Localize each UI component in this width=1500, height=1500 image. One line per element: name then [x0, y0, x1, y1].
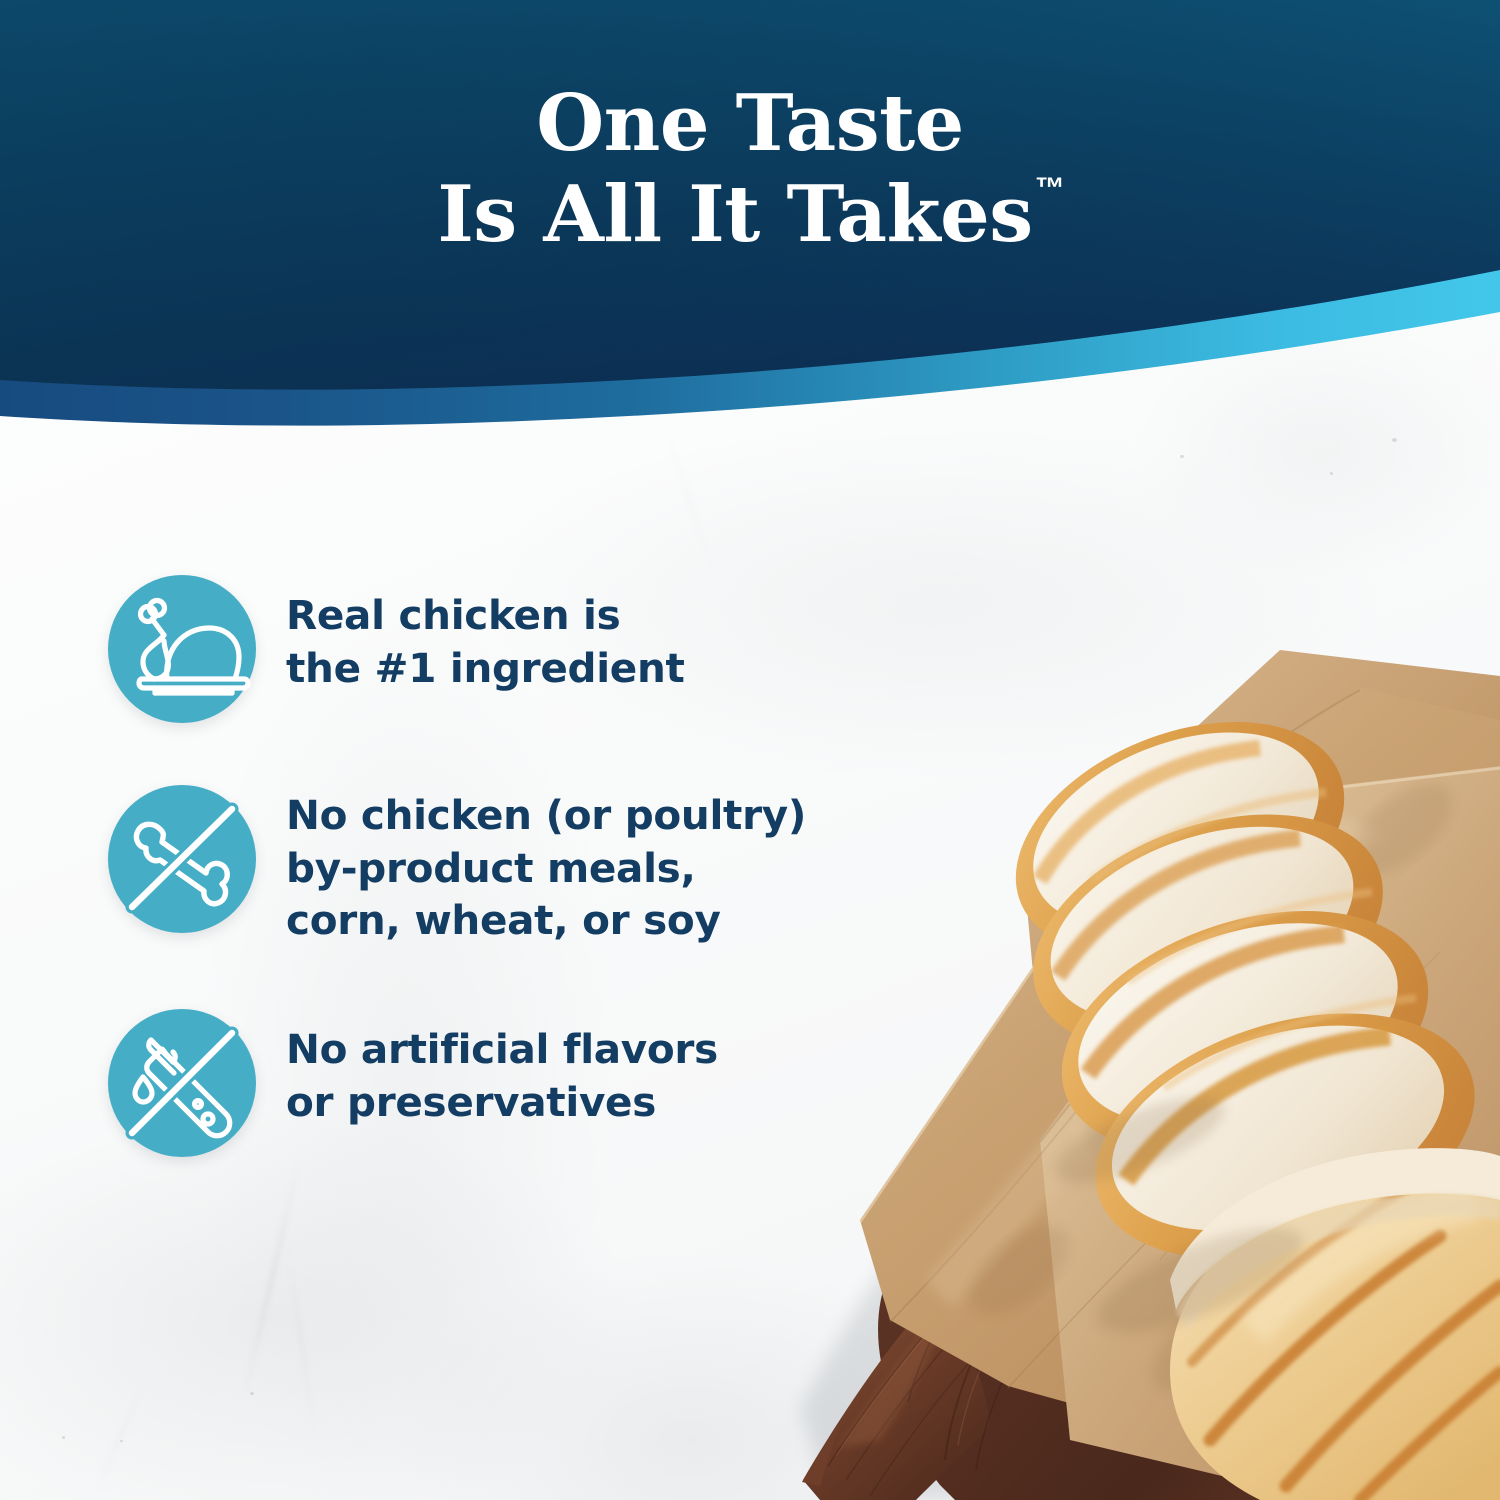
page-title: One Taste Is All It Takes™ — [0, 78, 1500, 261]
marble-speck — [250, 1392, 254, 1395]
marble-speck — [1180, 455, 1184, 458]
list-item: No artificial flavors or preservatives — [108, 1009, 908, 1157]
header-banner: One Taste Is All It Takes™ — [0, 0, 1500, 440]
headline-line-1: One Taste — [0, 78, 1500, 169]
marble-speck — [62, 1436, 65, 1439]
list-item-label: Real chicken is the #1 ingredient — [286, 575, 685, 694]
marble-speck — [120, 1440, 123, 1442]
headline-line-2-text: Is All It Takes — [437, 169, 1032, 260]
benefits-list: Real chicken is the #1 ingredient — [108, 575, 908, 1157]
roast-chicken-platter-icon — [108, 575, 256, 723]
trademark-symbol: ™ — [1035, 172, 1065, 205]
promo-canvas: One Taste Is All It Takes™ — [0, 0, 1500, 1500]
headline-line-2: Is All It Takes™ — [0, 169, 1500, 260]
list-item: Real chicken is the #1 ingredient — [108, 575, 908, 723]
no-bone-icon — [108, 785, 256, 933]
marble-speck — [1330, 472, 1333, 475]
list-item-label: No artificial flavors or preservatives — [286, 1009, 718, 1128]
list-item: No chicken (or poultry) by-product meals… — [108, 785, 908, 947]
no-test-tube-icon — [108, 1009, 256, 1157]
list-item-label: No chicken (or poultry) by-product meals… — [286, 785, 806, 947]
